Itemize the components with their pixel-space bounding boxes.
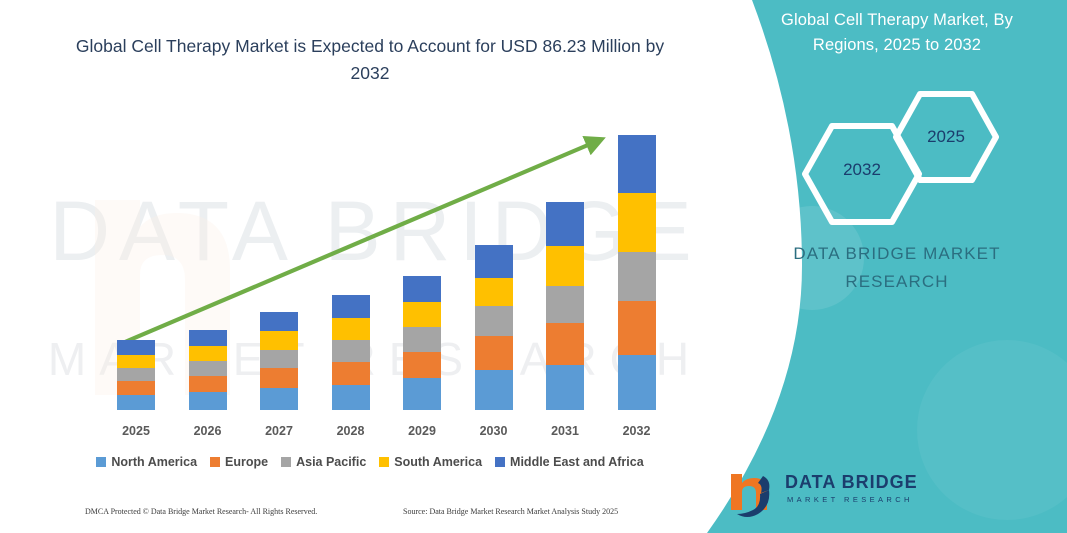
brand-text: DATA BRIDGE MARKET RESEARCH (757, 240, 1037, 296)
x-axis-label-2026: 2026 (173, 424, 243, 438)
bar-segment (546, 365, 584, 410)
legend-label: Asia Pacific (296, 455, 366, 469)
svg-text:DATA BRIDGE: DATA BRIDGE (49, 184, 700, 278)
right-panel: Global Cell Therapy Market, By Regions, … (707, 0, 1067, 533)
bar-segment (117, 368, 155, 381)
bar-segment (117, 381, 155, 395)
panel-title: Global Cell Therapy Market, By Regions, … (747, 8, 1047, 58)
bar-segment (260, 388, 298, 410)
bar-2031[interactable] (546, 202, 584, 410)
bar-2030[interactable] (475, 245, 513, 410)
dbmr-logo-subtitle: MARKET RESEARCH (787, 495, 913, 504)
chart-legend: North AmericaEuropeAsia PacificSouth Ame… (60, 455, 680, 469)
bar-segment (117, 395, 155, 410)
bar-segment (260, 368, 298, 388)
bar-segment (546, 286, 584, 323)
bar-segment (189, 346, 227, 361)
bar-2026[interactable] (189, 330, 227, 410)
bar-segment (260, 331, 298, 349)
brand-line-2: RESEARCH (757, 268, 1037, 296)
legend-swatch-icon (210, 457, 220, 467)
infographic-root: Global Cell Therapy Market is Expected t… (0, 0, 1067, 533)
bar-segment (403, 352, 441, 378)
legend-item-europe[interactable]: Europe (210, 455, 268, 469)
bar-segment (332, 385, 370, 410)
x-axis-label-2027: 2027 (244, 424, 314, 438)
x-axis-label-2030: 2030 (459, 424, 529, 438)
x-axis-label-2032: 2032 (602, 424, 672, 438)
legend-swatch-icon (281, 457, 291, 467)
bar-segment (260, 350, 298, 368)
bar-segment (332, 340, 370, 361)
hexagon-2025-label: 2025 (892, 127, 1000, 147)
bar-segment (403, 327, 441, 351)
legend-item-south-america[interactable]: South America (379, 455, 482, 469)
bar-segment (117, 340, 155, 354)
bar-segment (475, 306, 513, 336)
bar-segment (618, 355, 656, 410)
brand-line-1: DATA BRIDGE MARKET (757, 240, 1037, 268)
dbmr-logo-title: DATA BRIDGE (785, 472, 918, 493)
footer-source: Source: Data Bridge Market Research Mark… (403, 507, 618, 516)
bar-segment (546, 323, 584, 364)
bar-segment (117, 355, 155, 368)
legend-label: Middle East and Africa (510, 455, 644, 469)
hexagon-badges: 2032 2025 (802, 100, 1032, 215)
bar-segment (475, 370, 513, 410)
legend-label: North America (111, 455, 197, 469)
legend-label: Europe (225, 455, 268, 469)
bar-2028[interactable] (332, 295, 370, 410)
bar-segment (618, 252, 656, 301)
bar-segment (189, 330, 227, 345)
bar-segment (546, 246, 584, 286)
bar-segment (618, 301, 656, 354)
footer: DMCA Protected © Data Bridge Market Rese… (0, 505, 740, 527)
bar-segment (332, 295, 370, 318)
bar-segment (403, 378, 441, 410)
dbmr-logo-icon (725, 470, 785, 518)
legend-item-middle-east-and-africa[interactable]: Middle East and Africa (495, 455, 644, 469)
footer-copyright: DMCA Protected © Data Bridge Market Rese… (85, 507, 317, 516)
legend-item-north-america[interactable]: North America (96, 455, 197, 469)
chart-area: Global Cell Therapy Market is Expected t… (0, 0, 740, 533)
bar-segment (260, 312, 298, 331)
bar-segment (618, 135, 656, 193)
x-axis-label-2025: 2025 (101, 424, 171, 438)
x-axis-label-2028: 2028 (316, 424, 386, 438)
legend-swatch-icon (96, 457, 106, 467)
legend-swatch-icon (379, 457, 389, 467)
bar-2025[interactable] (117, 340, 155, 410)
bar-2027[interactable] (260, 312, 298, 410)
chart-title: Global Cell Therapy Market is Expected t… (60, 33, 680, 87)
x-axis-label-2031: 2031 (530, 424, 600, 438)
legend-swatch-icon (495, 457, 505, 467)
bar-2032[interactable] (618, 135, 656, 410)
bar-segment (475, 245, 513, 278)
bar-segment (189, 361, 227, 376)
bar-segment (546, 202, 584, 245)
bar-segment (189, 376, 227, 392)
bar-2029[interactable] (403, 276, 441, 410)
legend-label: South America (394, 455, 482, 469)
legend-item-asia-pacific[interactable]: Asia Pacific (281, 455, 366, 469)
bar-segment (332, 318, 370, 340)
bar-segment (475, 278, 513, 306)
bar-segment (403, 302, 441, 327)
bar-segment (189, 392, 227, 410)
dbmr-logo: DATA BRIDGE MARKET RESEARCH (717, 470, 927, 520)
bar-segment (475, 336, 513, 369)
bar-segment (332, 362, 370, 385)
bar-segment (618, 193, 656, 251)
bar-segment (403, 276, 441, 302)
x-axis-label-2029: 2029 (387, 424, 457, 438)
